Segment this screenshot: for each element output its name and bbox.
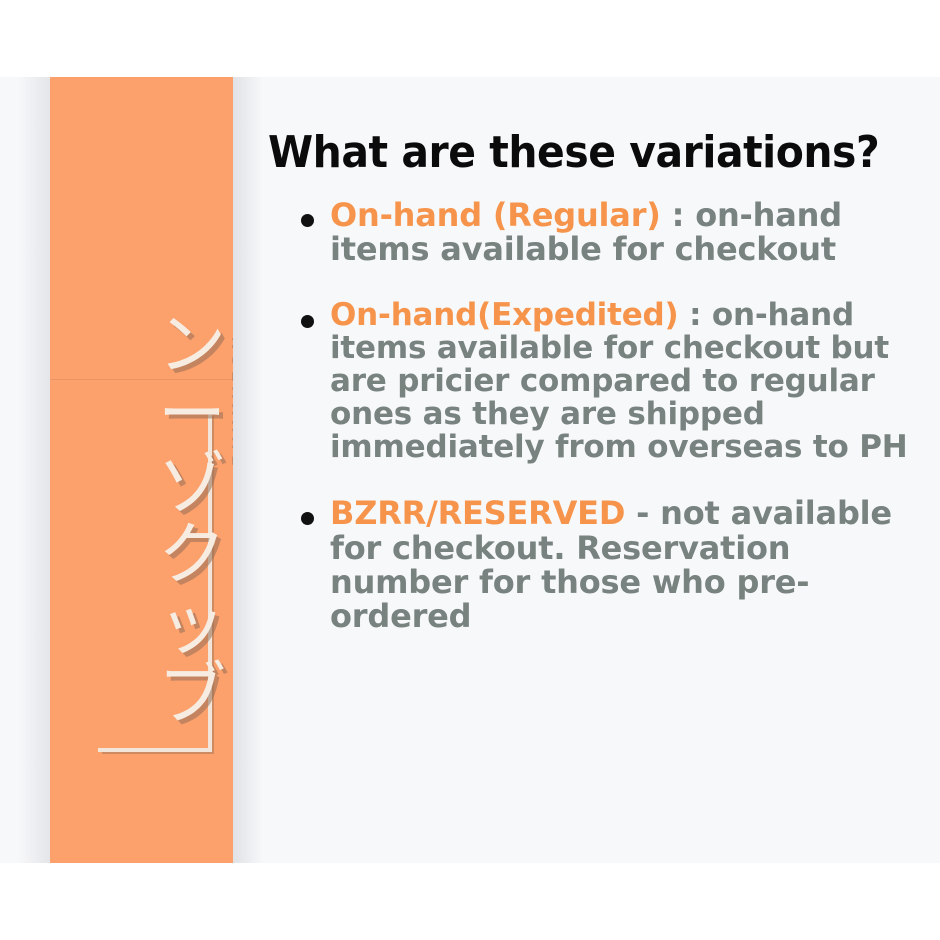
logo-latin-wordmark-text: BUKKUZON <box>230 334 233 467</box>
text-column: What are these variations? On-hand (Regu… <box>268 130 908 633</box>
slide-canvas: ブ ッ ク ゾ ー ン BUKKUZON What are these vari… <box>0 0 940 940</box>
list-item: On-hand(Expedited) : on-hand items avail… <box>268 299 908 465</box>
page-title: What are these variations? <box>268 130 863 176</box>
bullet-dot-icon <box>301 315 314 328</box>
brand-panel: ブ ッ ク ゾ ー ン BUKKUZON <box>50 77 233 863</box>
list-item-separator: - <box>625 494 660 532</box>
kana-char-n: ン <box>158 313 226 383</box>
list-item: On-hand (Regular) : on-hand items availa… <box>268 198 908 266</box>
kana-char-ku: ク <box>158 523 226 593</box>
logo-kana-wordmark: ブ ッ ク ゾ ー ン <box>142 313 233 733</box>
list-item: BZRR/RESERVED - not available for checko… <box>268 496 908 633</box>
list-item-text: On-hand(Expedited) : on-hand items avail… <box>330 299 908 465</box>
kana-char-long-vowel: ー <box>158 383 226 453</box>
kana-char-zo: ゾ <box>158 453 226 523</box>
kana-char-bu: ブ <box>158 663 226 733</box>
list-item-term: On-hand(Expedited) <box>330 297 679 333</box>
list-item-text: On-hand (Regular) : on-hand items availa… <box>330 198 908 266</box>
list-item-separator: : <box>679 297 712 333</box>
list-item-term: BZRR/RESERVED <box>330 494 625 532</box>
list-item-text: BZRR/RESERVED - not available for checko… <box>330 496 908 633</box>
kana-char-small-tsu: ッ <box>158 593 226 663</box>
bullet-dot-icon <box>301 214 314 227</box>
variations-list: On-hand (Regular) : on-hand items availa… <box>268 198 908 633</box>
bullet-dot-icon <box>301 512 314 525</box>
list-item-separator: : <box>661 196 695 234</box>
logo-latin-wordmark: BUKKUZON <box>225 321 233 481</box>
list-item-term: On-hand (Regular) <box>330 196 661 234</box>
